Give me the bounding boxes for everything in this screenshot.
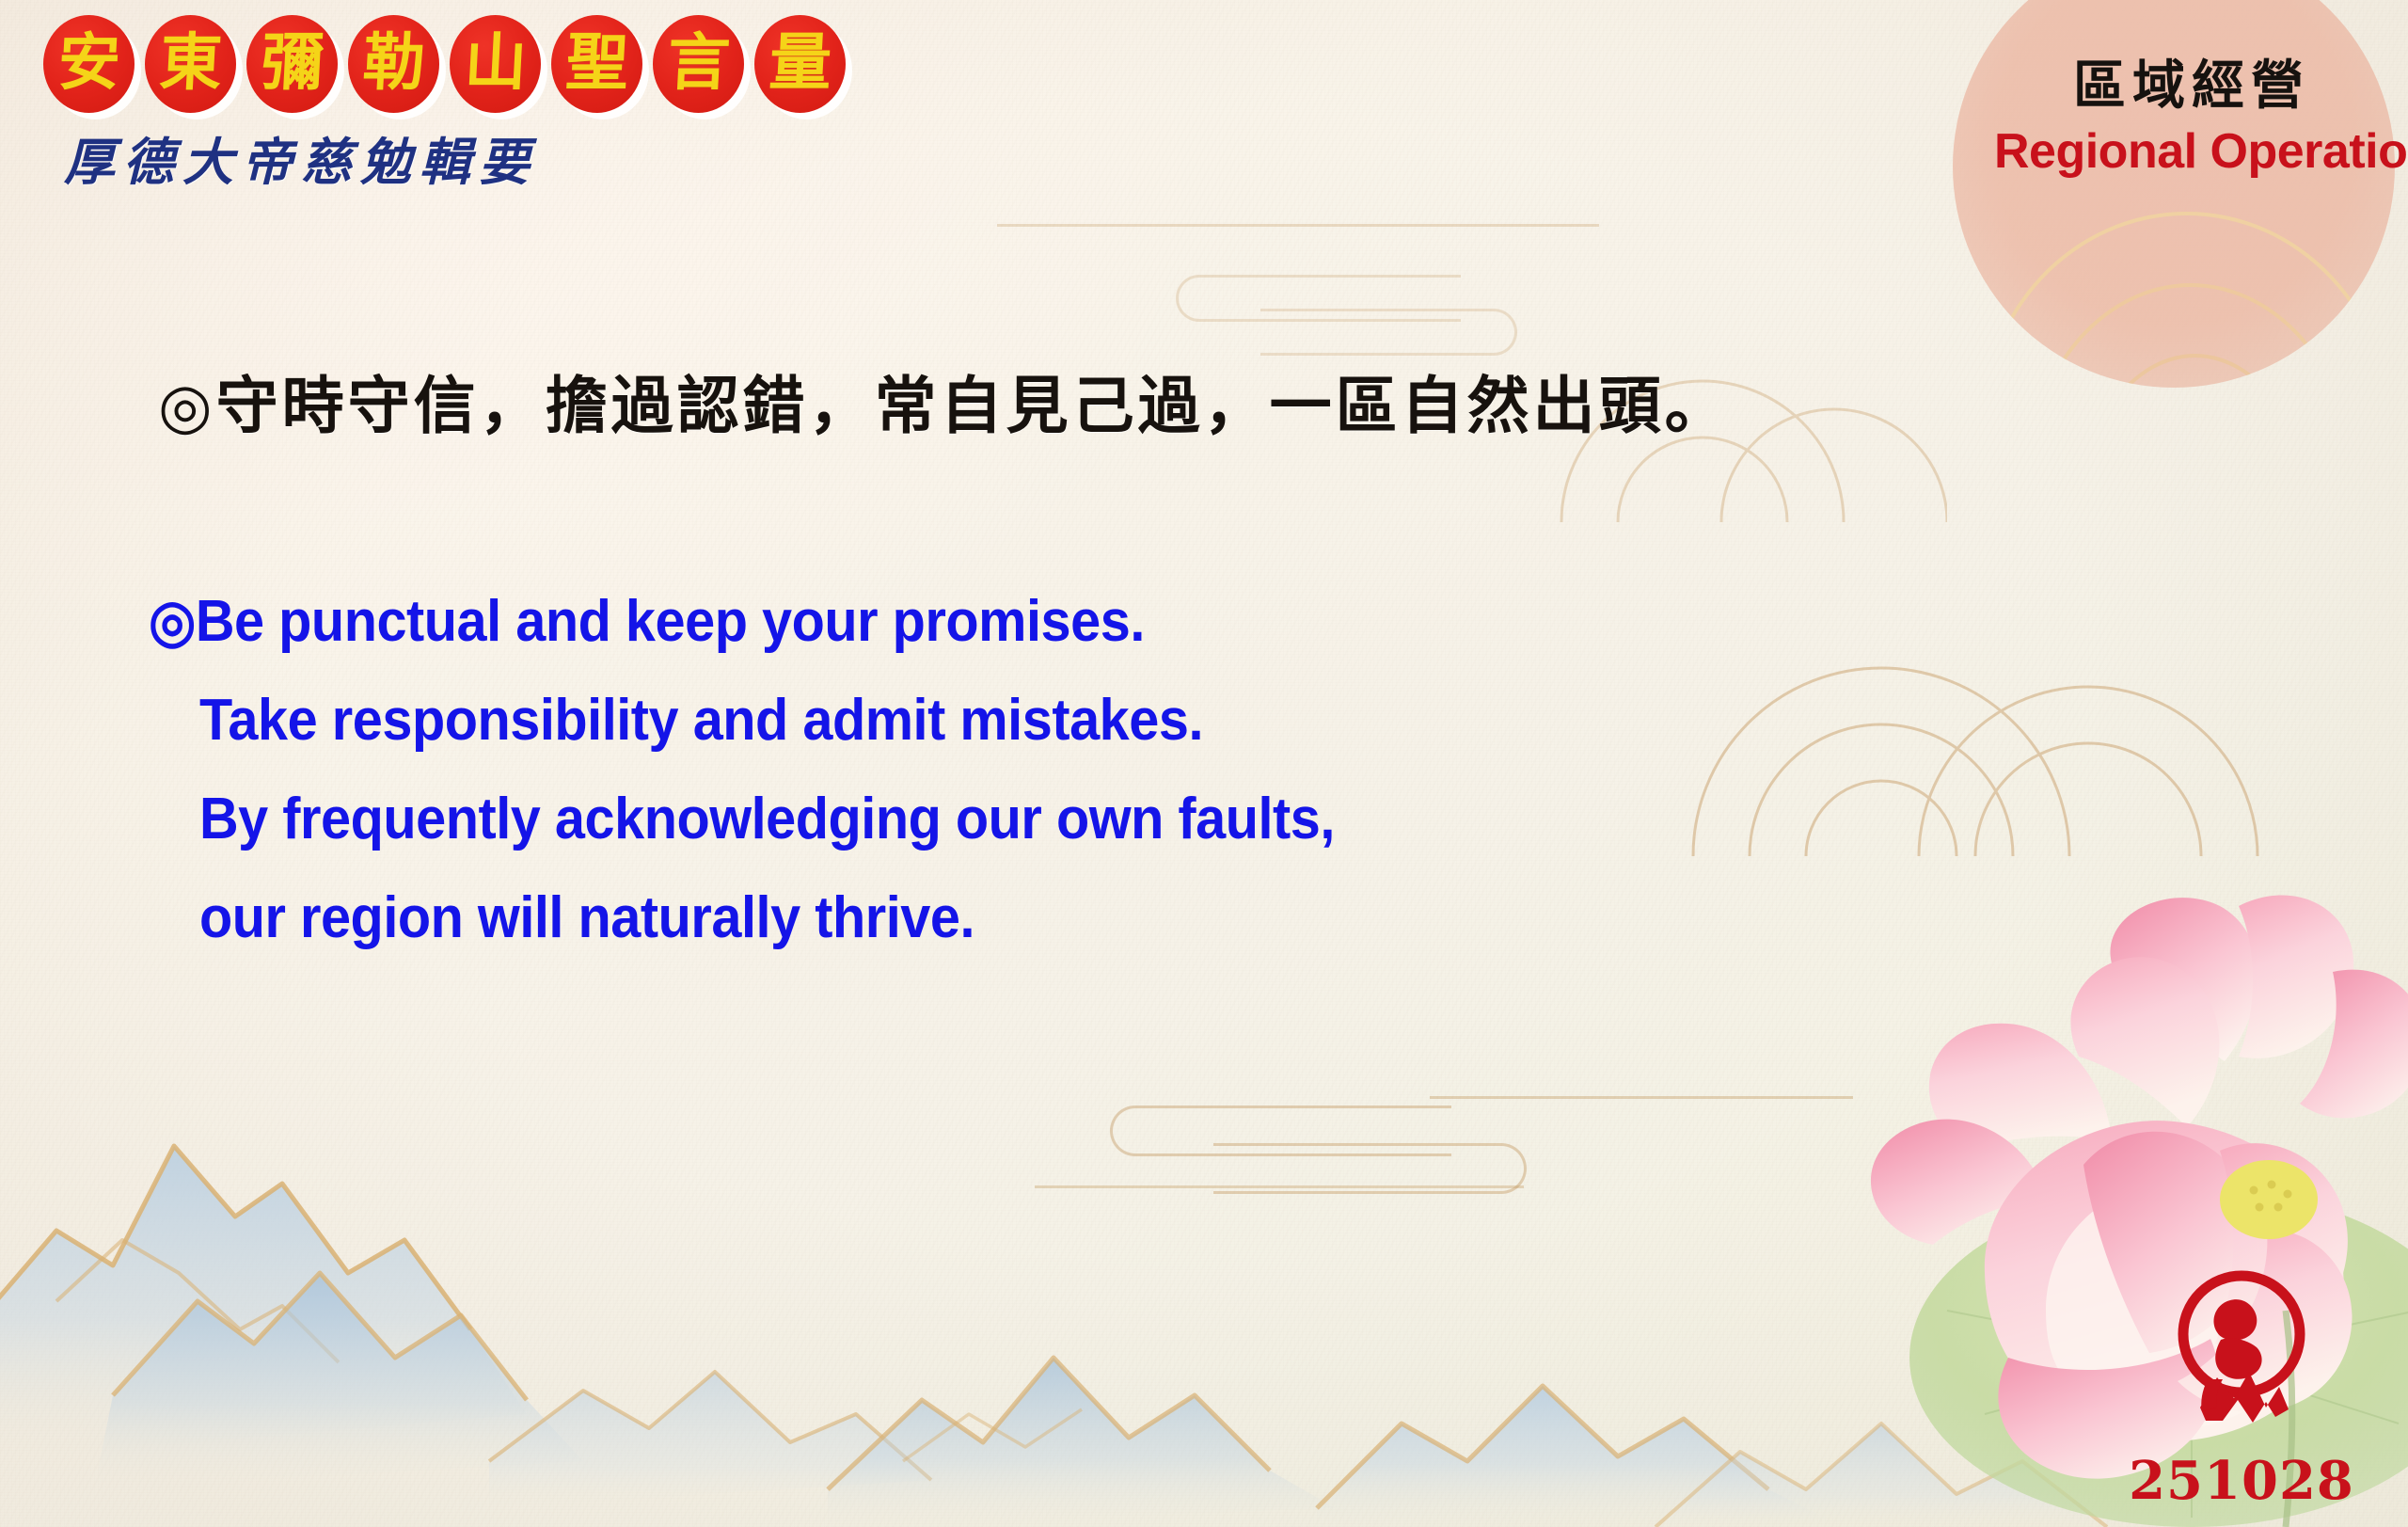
chinese-quote: ◎守時守信，擔過認錯，常自見己過，一區自然出頭。 <box>158 356 1731 446</box>
seal-char-2: 東 <box>145 15 236 113</box>
seal-char-5-text: 山 <box>463 31 528 93</box>
slide-number: 251028 <box>2124 1450 2359 1512</box>
seal-char-2-text: 東 <box>158 31 223 93</box>
seal-char-3: 彌 <box>246 15 338 113</box>
seal-char-8: 量 <box>754 15 846 113</box>
seal-char-1-text: 安 <box>56 31 121 93</box>
seal-char-4-text: 勒 <box>361 31 426 93</box>
seal-char-1: 安 <box>43 15 135 113</box>
english-quote-line-2: Take responsibility and admit mistakes. <box>149 671 1335 770</box>
english-quote-line-3: By frequently acknowledging our own faul… <box>149 770 1335 868</box>
seal-char-4: 勒 <box>348 15 439 113</box>
seal-char-7: 言 <box>653 15 744 113</box>
footer-logo-group: 251028 <box>2124 1266 2359 1512</box>
english-quote-block: ◎Be punctual and keep your promises. Tak… <box>149 572 1335 967</box>
cloud-line-motif-5 <box>1176 275 1461 322</box>
page-subtitle: 厚德大帝慈勉輯要 <box>64 120 538 195</box>
seal-char-6: 聖 <box>551 15 642 113</box>
seal-title: 安 東 彌 勒 山 聖 言 量 <box>43 15 846 113</box>
english-quote-line-4: our region will naturally thrive. <box>149 868 1335 967</box>
seal-char-6-text: 聖 <box>564 31 629 93</box>
regional-operations-badge-text: 區域經營 Regional Operations <box>1994 43 2389 180</box>
seal-char-3-text: 彌 <box>260 31 325 93</box>
maitreya-buddha-icon <box>2147 1266 2336 1451</box>
seal-char-5: 山 <box>450 15 541 113</box>
english-quote-line-1: ◎Be punctual and keep your promises. <box>149 572 1335 671</box>
badge-chinese-label: 區域經營 <box>1994 43 2389 119</box>
seal-char-7-text: 言 <box>666 31 731 93</box>
badge-english-label: Regional Operations <box>1994 123 2389 180</box>
cloud-line-motif-6 <box>1260 309 1517 356</box>
cloud-line-motif-7 <box>997 224 1599 227</box>
slide-canvas: 區域經營 Regional Operations 安 東 彌 勒 山 聖 言 量… <box>0 0 2408 1527</box>
ripple-arc-motif <box>1684 527 2267 866</box>
seal-char-8-text: 量 <box>768 31 832 93</box>
